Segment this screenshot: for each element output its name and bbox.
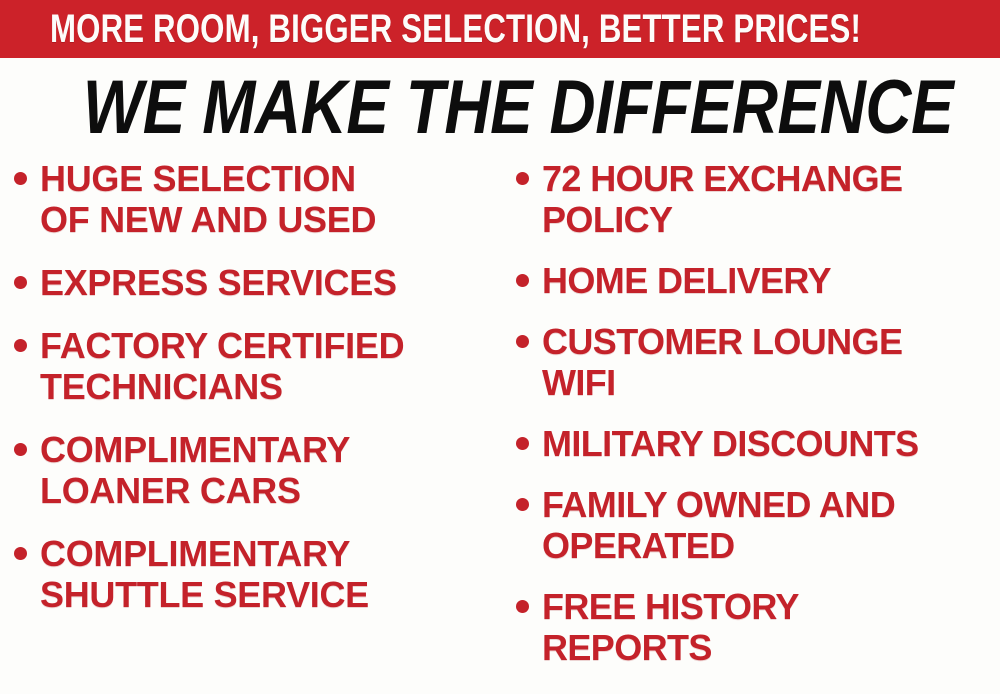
benefit-item: COMPLIMENTARY LOANER CARS xyxy=(14,429,506,511)
benefit-item: FREE HISTORY REPORTS xyxy=(516,586,1000,668)
benefit-item: FACTORY CERTIFIED TECHNICIANS xyxy=(14,325,506,407)
bullet-dot-icon xyxy=(516,274,529,287)
benefits-columns: HUGE SELECTION OF NEW AND USED EXPRESS S… xyxy=(0,158,1000,694)
benefit-item: HOME DELIVERY xyxy=(516,260,1000,301)
benefit-label: FAMILY OWNED AND OPERATED xyxy=(542,484,1000,566)
bullet-dot-icon xyxy=(516,498,529,511)
promo-banner: MORE ROOM, BIGGER SELECTION, BETTER PRIC… xyxy=(0,0,1000,58)
bullet-dot-icon xyxy=(516,437,529,450)
promo-banner-text: MORE ROOM, BIGGER SELECTION, BETTER PRIC… xyxy=(50,9,861,49)
bullet-dot-icon xyxy=(14,443,27,456)
bullet-dot-icon xyxy=(14,339,27,352)
benefit-label: HOME DELIVERY xyxy=(542,260,1000,301)
bullet-dot-icon xyxy=(14,172,27,185)
advertisement-banner-root: MORE ROOM, BIGGER SELECTION, BETTER PRIC… xyxy=(0,0,1000,694)
bullet-dot-icon xyxy=(516,600,529,613)
benefit-label: FACTORY CERTIFIED TECHNICIANS xyxy=(40,325,506,407)
benefit-item: 72 HOUR EXCHANGE POLICY xyxy=(516,158,1000,240)
benefit-label: FREE HISTORY REPORTS xyxy=(542,586,1000,668)
benefits-column-left: HUGE SELECTION OF NEW AND USED EXPRESS S… xyxy=(14,158,506,694)
benefit-label: COMPLIMENTARY SHUTTLE SERVICE xyxy=(40,533,506,615)
benefit-label: HUGE SELECTION OF NEW AND USED xyxy=(40,158,506,240)
benefit-item: FAMILY OWNED AND OPERATED xyxy=(516,484,1000,566)
benefit-label: EXPRESS SERVICES xyxy=(40,262,506,303)
benefit-label: CUSTOMER LOUNGE WIFI xyxy=(542,321,1000,403)
headline: WE MAKE THE DIFFERENCE xyxy=(0,72,1000,144)
benefit-item: HUGE SELECTION OF NEW AND USED xyxy=(14,158,506,240)
bullet-dot-icon xyxy=(516,172,529,185)
benefit-label: MILITARY DISCOUNTS xyxy=(542,423,1000,464)
bullet-dot-icon xyxy=(14,276,27,289)
benefit-item: CUSTOMER LOUNGE WIFI xyxy=(516,321,1000,403)
benefit-item: MILITARY DISCOUNTS xyxy=(516,423,1000,464)
benefit-item: COMPLIMENTARY SHUTTLE SERVICE xyxy=(14,533,506,615)
benefit-label: COMPLIMENTARY LOANER CARS xyxy=(40,429,506,511)
benefit-item: EXPRESS SERVICES xyxy=(14,262,506,303)
benefits-column-right: 72 HOUR EXCHANGE POLICY HOME DELIVERY CU… xyxy=(516,158,1000,694)
bullet-dot-icon xyxy=(516,335,529,348)
benefit-label: 72 HOUR EXCHANGE POLICY xyxy=(542,158,1000,240)
headline-text: WE MAKE THE DIFFERENCE xyxy=(83,72,953,144)
bullet-dot-icon xyxy=(14,547,27,560)
